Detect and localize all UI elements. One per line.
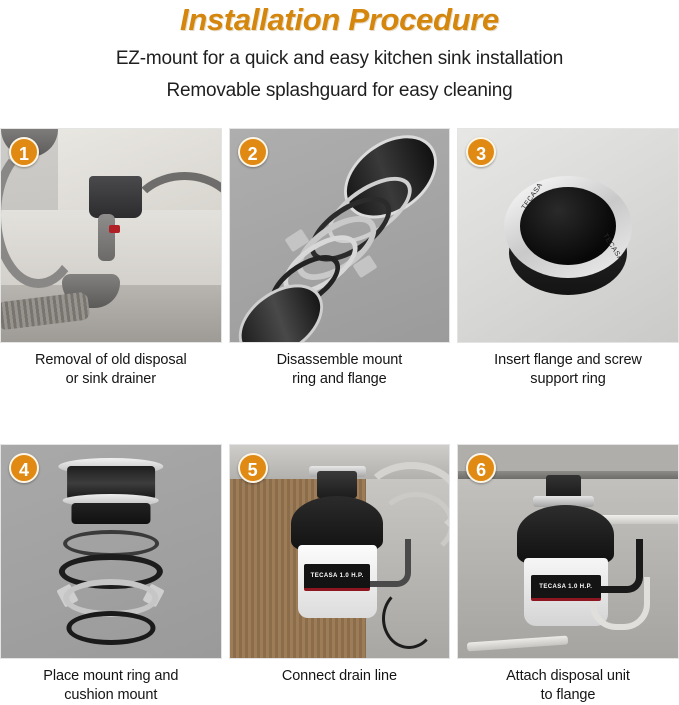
step-image-5: TECASA 1.0 H.P. 5: [229, 444, 451, 659]
steps-row-top: 1 Removal of old disposal or sink draine…: [0, 128, 679, 389]
steps-row-bottom: 4 Place mount ring and cushion mount: [0, 444, 679, 705]
step-caption-4: Place mount ring and cushion mount: [0, 667, 222, 705]
step-badge-1: 1: [9, 137, 39, 167]
step-caption-3: Insert flange and screw support ring: [457, 351, 679, 389]
step-image-1: 1: [0, 128, 222, 343]
step-card-1: 1 Removal of old disposal or sink draine…: [0, 128, 222, 389]
step-badge-5: 5: [238, 453, 268, 483]
step-card-6: TECASA 1.0 H.P. 6 Attach disposal unit t…: [457, 444, 679, 705]
step-image-2: 2: [229, 128, 451, 343]
step-badge-6: 6: [466, 453, 496, 483]
step-badge-4: 4: [9, 453, 39, 483]
product-label-text-5: TECASA 1.0 H.P.: [311, 573, 364, 579]
step-image-6: TECASA 1.0 H.P. 6: [457, 444, 679, 659]
step-image-3: TECASA TECASA 3: [457, 128, 679, 343]
product-label-5: TECASA 1.0 H.P.: [304, 564, 370, 590]
step-caption-6: Attach disposal unit to flange: [457, 667, 679, 705]
page-title: Installation Procedure: [0, 2, 679, 38]
header: Installation Procedure EZ-mount for a qu…: [0, 0, 679, 106]
subtitle-line-1: EZ-mount for a quick and easy kitchen si…: [0, 44, 679, 74]
installation-procedure-infographic: Installation Procedure EZ-mount for a qu…: [0, 0, 679, 648]
step-image-4: 4: [0, 444, 222, 659]
step-card-5: TECASA 1.0 H.P. 5 Connect drain line: [229, 444, 451, 705]
product-label-6: TECASA 1.0 H.P.: [531, 575, 601, 601]
step-badge-3: 3: [466, 137, 496, 167]
step-card-2: 2 Disassemble mount ring and flange: [229, 128, 451, 389]
steps-grid: 1 Removal of old disposal or sink draine…: [0, 128, 679, 705]
step-card-4: 4 Place mount ring and cushion mount: [0, 444, 222, 705]
step-card-3: TECASA TECASA 3 Insert flange and screw …: [457, 128, 679, 389]
step-caption-2: Disassemble mount ring and flange: [229, 351, 451, 389]
step-caption-1: Removal of old disposal or sink drainer: [0, 351, 222, 389]
product-label-text-6: TECASA 1.0 H.P.: [539, 584, 592, 590]
subtitle-line-2: Removable splashguard for easy cleaning: [0, 76, 679, 106]
step-caption-5: Connect drain line: [229, 667, 451, 686]
step-badge-2: 2: [238, 137, 268, 167]
